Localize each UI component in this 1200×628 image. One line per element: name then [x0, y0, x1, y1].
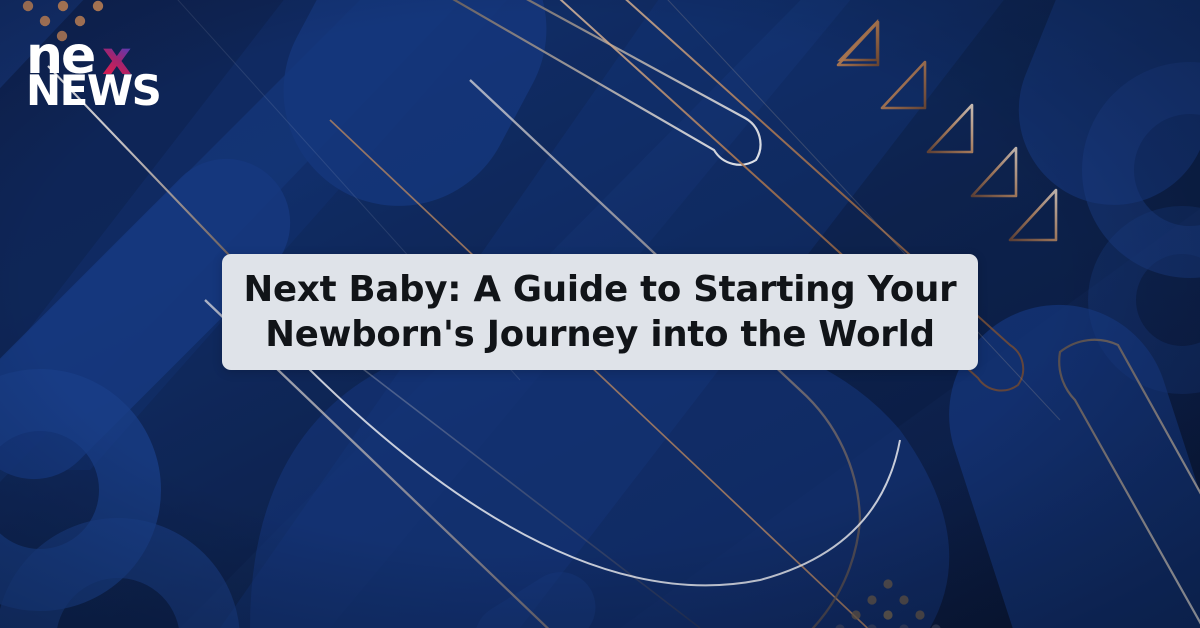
headline-text: Next Baby: A Guide to Starting Your Newb…	[222, 267, 978, 358]
logo-text-news: NEWS	[26, 70, 160, 112]
social-share-card: ne x NEWS Next Baby: A Guide to Starting…	[0, 0, 1200, 628]
headline-panel: Next Baby: A Guide to Starting Your Newb…	[222, 254, 978, 370]
nexnews-logo[interactable]: ne x NEWS	[26, 30, 166, 112]
